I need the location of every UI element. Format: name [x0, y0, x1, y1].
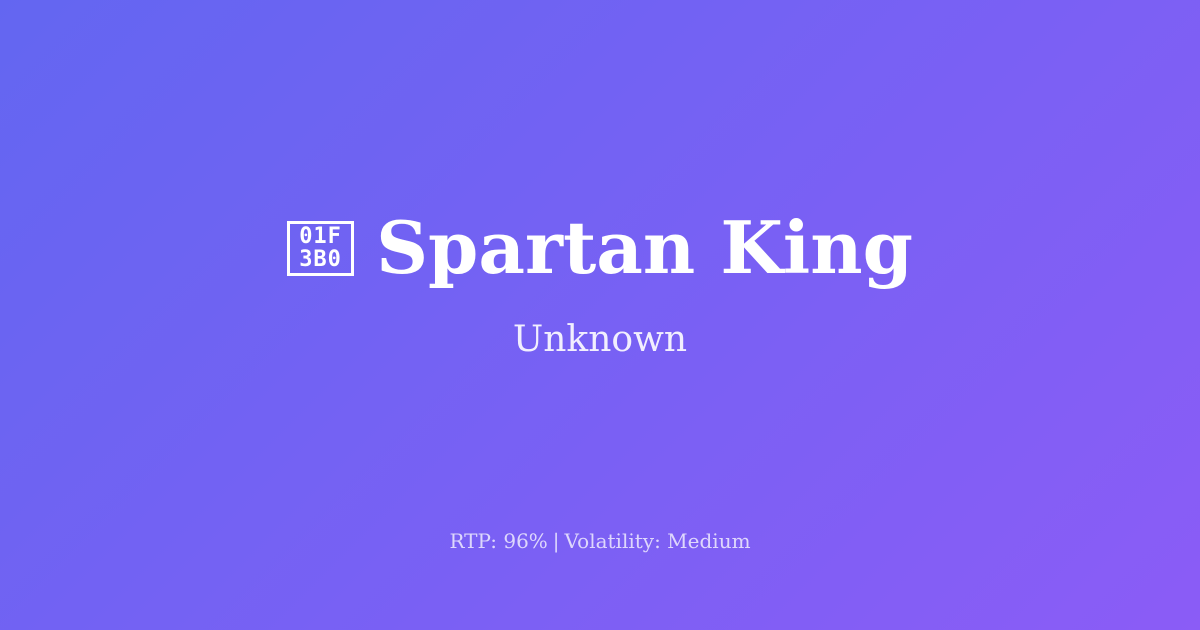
- game-title-text: Spartan King: [376, 212, 913, 284]
- tofu-codepoint-row-top: 01F: [299, 225, 342, 248]
- game-meta-line: RTP: 96%|Volatility: Medium: [0, 531, 1200, 551]
- page-title: 01F 3B0 Spartan King: [287, 212, 913, 284]
- game-provider-subtitle: Unknown: [513, 322, 687, 358]
- tofu-codepoint-row-bottom: 3B0: [299, 248, 342, 271]
- volatility-label: Volatility: Medium: [565, 529, 751, 553]
- hero-block: 01F 3B0 Spartan King Unknown: [0, 212, 1200, 358]
- game-og-card: 01F 3B0 Spartan King Unknown RTP: 96%|Vo…: [0, 0, 1200, 630]
- meta-separator: |: [548, 529, 565, 553]
- slot-machine-icon: 01F 3B0: [287, 221, 354, 276]
- rtp-label: RTP: 96%: [449, 529, 547, 553]
